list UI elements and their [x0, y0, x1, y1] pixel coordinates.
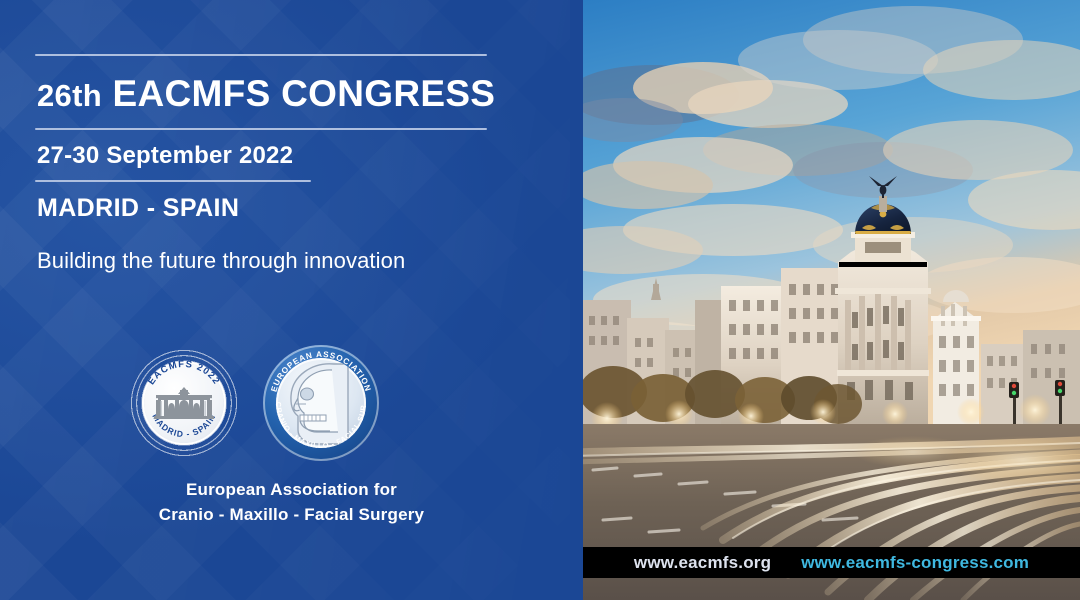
page-title: 26th EACMFS CONGRESS [37, 73, 505, 115]
rule-below-title [35, 128, 487, 130]
congress-location: MADRID - SPAIN [37, 194, 505, 223]
title-ordinal: 26th [37, 78, 102, 113]
svg-text:EUROPEAN ASSOCIATION: EUROPEAN ASSOCIATION [269, 350, 372, 393]
madrid-arc-top-text: EACMFS 2022 [146, 359, 222, 387]
organisation-line-1: European Association for [0, 478, 583, 503]
logo-group: EACMFS 2022 MADRID - SPAIN [130, 345, 390, 455]
congress-tagline: Building the future through innovation [37, 248, 405, 274]
eacmfs-madrid-2022-logo: EACMFS 2022 MADRID - SPAIN [130, 349, 238, 457]
madrid-photo [583, 0, 1080, 600]
puerta-de-alcala-gate-icon [154, 385, 214, 419]
congress-banner: 26th EACMFS CONGRESS 27-30 September 202… [0, 0, 1080, 600]
organisation-line-2: Cranio - Maxillo - Facial Surgery [0, 503, 583, 528]
website-url-bar: www.eacmfs.org www.eacmfs-congress.com [583, 547, 1080, 578]
organisation-name: European Association for Cranio - Maxill… [0, 478, 583, 527]
rule-below-date [35, 180, 311, 182]
association-arc-top-text: EUROPEAN ASSOCIATION [269, 350, 372, 393]
rule-above-title [35, 54, 487, 56]
eacmfs-association-logo: EUROPEAN ASSOCIATION FOR CRANIO - MAXILL… [263, 345, 379, 461]
title-main: EACMFS CONGRESS [102, 73, 495, 114]
headline-block: 26th EACMFS CONGRESS 27-30 September 202… [35, 54, 505, 223]
association-logo-arc-text: EUROPEAN ASSOCIATION FOR CRANIO - MAXILL… [263, 345, 379, 461]
congress-date: 27-30 September 2022 [37, 142, 505, 170]
svg-text:EACMFS 2022: EACMFS 2022 [146, 359, 222, 387]
congress-website-url[interactable]: www.eacmfs-congress.com [801, 553, 1029, 573]
association-website-url[interactable]: www.eacmfs.org [634, 553, 771, 573]
